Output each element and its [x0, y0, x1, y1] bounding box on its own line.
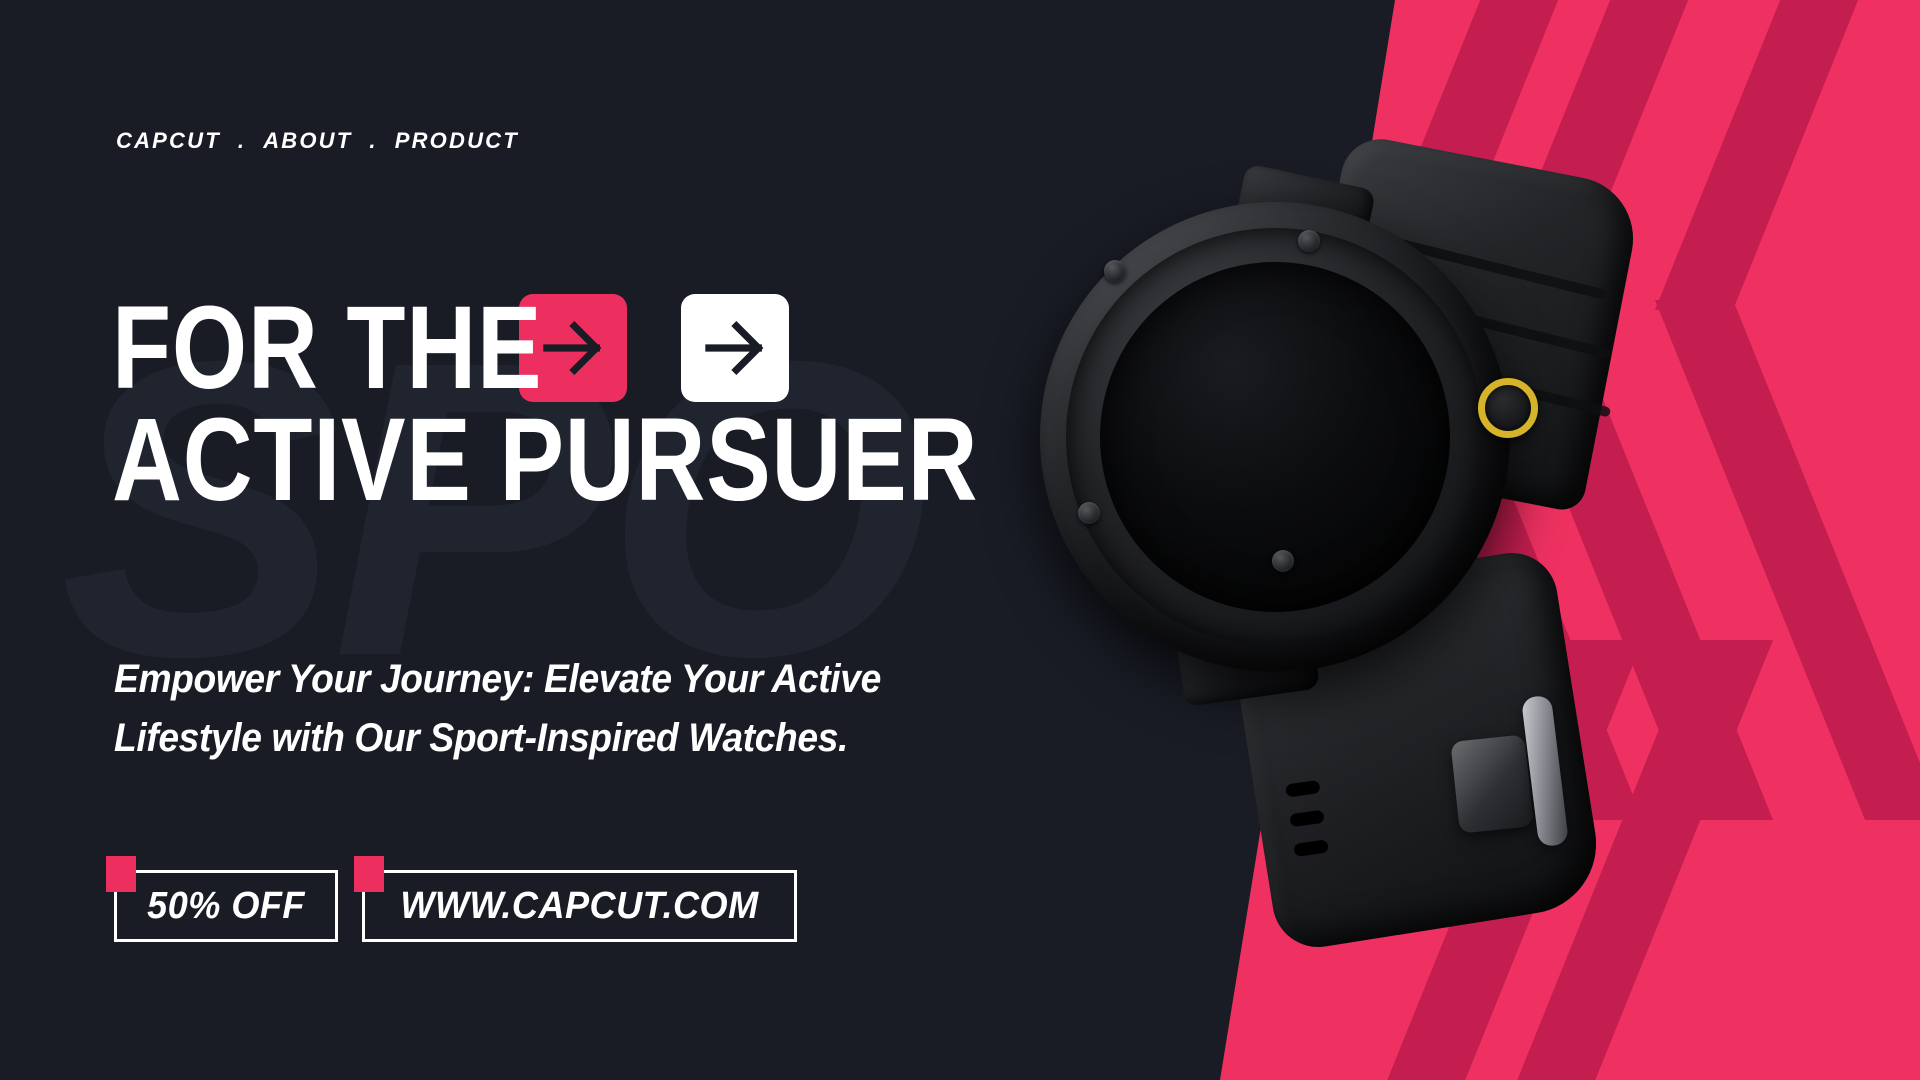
discount-badge-box: 50% OFF — [114, 870, 338, 942]
website-badge-label: WWW.CAPCUT.COM — [401, 885, 759, 928]
product-image-smartwatch — [1060, 140, 1820, 900]
discount-badge: 50% OFF — [114, 870, 338, 942]
nav-separator: . — [369, 128, 377, 154]
top-navigation: CAPCUT . ABOUT . PRODUCT — [116, 128, 519, 154]
nav-separator: . — [238, 128, 246, 154]
hero-headline: FOR THE ACTIVE PURSUER — [112, 292, 1168, 516]
bezel-screw — [1272, 550, 1294, 572]
corner-accent-square — [354, 856, 384, 892]
hero-subtitle: Empower Your Journey: Elevate Your Activ… — [114, 650, 914, 768]
headline-line-1: FOR THE — [112, 292, 542, 404]
bezel-screw — [1298, 230, 1320, 252]
arrow-right-icon — [702, 315, 768, 381]
headline-row-1: FOR THE — [112, 292, 1168, 404]
promo-banner: SPO — [0, 0, 1920, 1080]
nav-item-product[interactable]: PRODUCT — [395, 128, 519, 154]
discount-badge-label: 50% OFF — [147, 885, 305, 928]
website-badge-box[interactable]: WWW.CAPCUT.COM — [362, 870, 797, 942]
cta-arrow-group — [519, 294, 789, 402]
website-badge: WWW.CAPCUT.COM — [362, 870, 797, 942]
arrow-right-secondary-button[interactable] — [681, 294, 789, 402]
arrow-right-icon — [540, 315, 606, 381]
nav-item-capcut[interactable]: CAPCUT — [116, 128, 221, 154]
bezel-screw — [1104, 260, 1126, 282]
nav-item-about[interactable]: ABOUT — [263, 128, 352, 154]
headline-line-2: ACTIVE PURSUER — [112, 404, 978, 516]
strap-hole — [1289, 810, 1324, 828]
strap-hole — [1293, 839, 1328, 857]
watch-crown-button — [1478, 378, 1538, 438]
watch-buckle — [1450, 734, 1533, 833]
corner-accent-square — [106, 856, 136, 892]
badge-row: 50% OFF WWW.CAPCUT.COM — [114, 870, 797, 942]
strap-hole — [1285, 780, 1320, 798]
headline-row-2: ACTIVE PURSUER — [112, 404, 1168, 516]
